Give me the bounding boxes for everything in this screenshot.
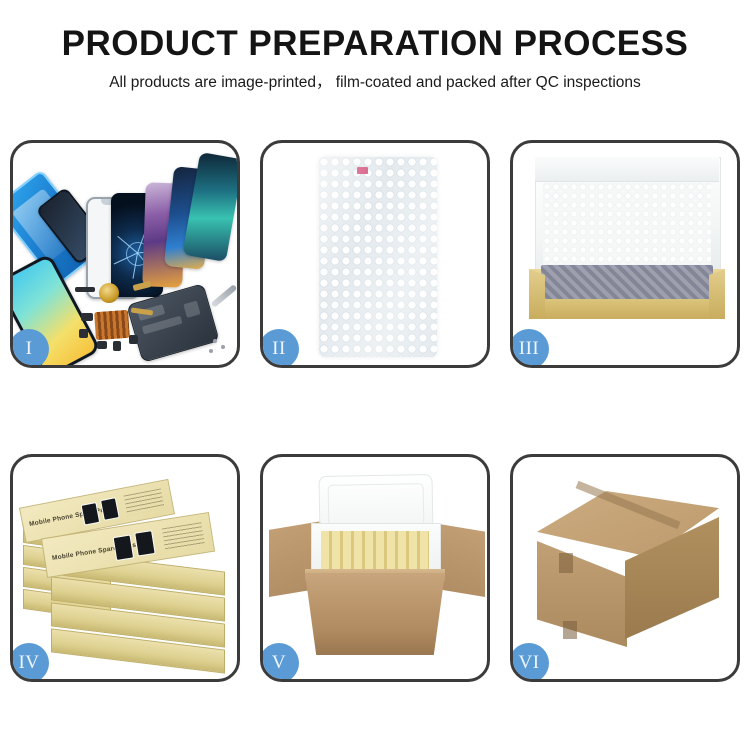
- bubble-wrap-bag-icon: [319, 157, 437, 357]
- product-swatch: [134, 530, 156, 557]
- carton-flap-seam: [563, 621, 577, 639]
- step-panel-6[interactable]: VI: [510, 454, 740, 682]
- step-badge-2: II: [260, 329, 299, 368]
- lid-fold-icon: [535, 157, 719, 182]
- part-bar-icon: [97, 341, 107, 349]
- foam-sheet-icon: [543, 183, 711, 275]
- part-bar-icon: [129, 335, 138, 344]
- step-image-2: [263, 143, 487, 365]
- spec-lines: [124, 488, 165, 515]
- step-badge-3: III: [510, 329, 549, 368]
- connector-grid-icon: [94, 310, 130, 340]
- page-subtitle: All products are image-printed， film-coa…: [0, 75, 750, 91]
- spec-lines: [162, 522, 205, 550]
- step-image-5: [263, 457, 487, 679]
- part-bar-icon: [75, 287, 95, 292]
- step-image-1: [13, 143, 237, 365]
- product-swatch: [81, 502, 101, 526]
- screw-icon: [209, 349, 213, 353]
- part-bar-icon: [79, 329, 88, 338]
- process-step-grid: I II III: [10, 140, 740, 682]
- page-header: PRODUCT PREPARATION PROCESS All products…: [0, 0, 750, 91]
- step-badge-5: V: [260, 643, 299, 682]
- screw-icon: [221, 345, 225, 349]
- step-panel-2[interactable]: II: [260, 140, 490, 368]
- step-panel-3[interactable]: III: [510, 140, 740, 368]
- step-panel-1[interactable]: I: [10, 140, 240, 368]
- tray-left-lip: [529, 269, 545, 319]
- step-panel-4[interactable]: Mobile Phone Spare Parts Mobile Phone Sp…: [10, 454, 240, 682]
- step-image-4: Mobile Phone Spare Parts Mobile Phone Sp…: [13, 457, 237, 679]
- page-title: PRODUCT PREPARATION PROCESS: [0, 26, 750, 61]
- carton-body-icon: [305, 573, 445, 655]
- bubble-wrap-contents-icon: [541, 265, 713, 299]
- step-panel-5[interactable]: V: [260, 454, 490, 682]
- carton-flap-seam: [559, 553, 573, 573]
- carton-front-face: [537, 541, 627, 647]
- part-bar-icon: [113, 341, 121, 351]
- box-stack-icon: Mobile Phone Spare Parts Mobile Phone Sp…: [13, 457, 237, 679]
- screw-icon: [213, 339, 217, 343]
- product-swatch: [113, 534, 135, 561]
- step-badge-4: IV: [10, 643, 49, 682]
- plastic-sheen: [319, 157, 437, 357]
- product-swatch: [100, 497, 120, 521]
- step-badge-6: VI: [510, 643, 549, 682]
- copper-coil-icon: [99, 283, 119, 303]
- tray-right-lip: [709, 269, 725, 319]
- tweezers-icon: [211, 284, 237, 308]
- chassis-slot: [183, 301, 200, 318]
- step-image-6: [513, 457, 737, 679]
- part-bar-icon: [81, 313, 93, 321]
- step-badge-1: I: [10, 329, 49, 368]
- step-image-3: [513, 143, 737, 365]
